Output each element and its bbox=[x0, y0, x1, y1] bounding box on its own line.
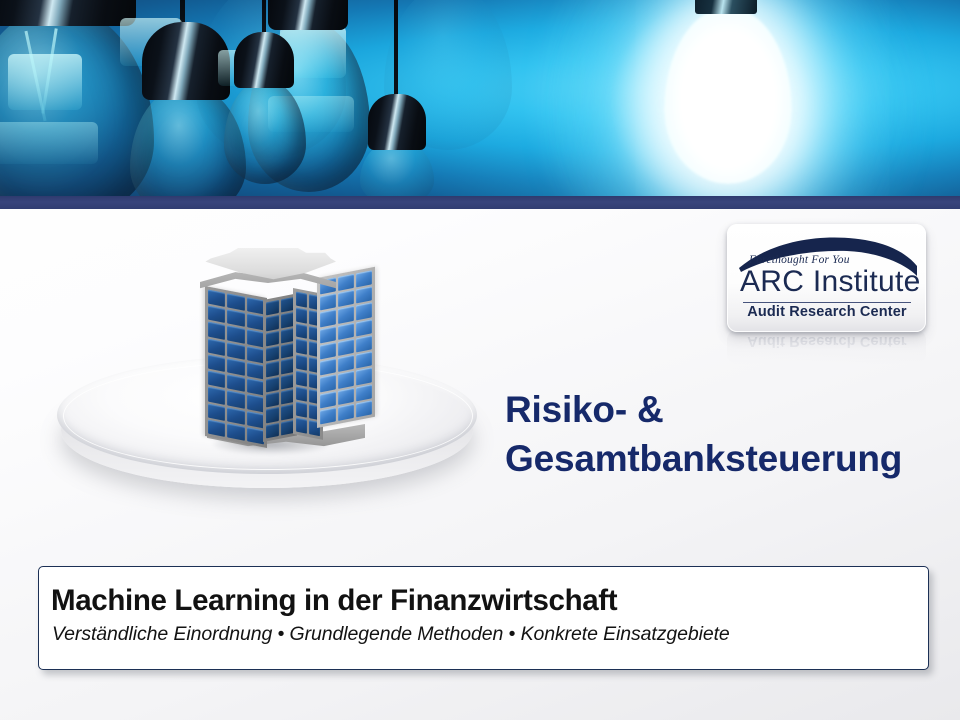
slide-title-line-2: Gesamtbanksteuerung bbox=[505, 434, 935, 483]
logo-subtitle: Audit Research Center bbox=[740, 305, 914, 320]
arc-institute-logo[interactable]: Forethought For You ARC Institute Audit … bbox=[727, 224, 926, 332]
building-face-right bbox=[317, 267, 375, 428]
banner-accent-strip bbox=[0, 196, 960, 209]
subtitle-box-heading: Machine Learning in der Finanzwirtschaft bbox=[51, 584, 617, 618]
logo-reflection: Audit Research Center bbox=[727, 333, 926, 363]
logo-divider bbox=[743, 302, 911, 303]
presentation-slide: Audit Research Center Forethought For Yo… bbox=[0, 0, 960, 720]
logo-reflection-text: Audit Research Center bbox=[740, 333, 914, 349]
building-face-left bbox=[205, 286, 267, 448]
slide-title: Risiko- & Gesamtbanksteuerung bbox=[505, 385, 935, 483]
subtitle-box-subheading: Verständliche Einordnung • Grundlegende … bbox=[52, 623, 730, 646]
logo-name: ARC Institute bbox=[740, 267, 914, 297]
building-tower bbox=[193, 248, 343, 446]
slide-title-line-1: Risiko- & bbox=[505, 385, 935, 434]
lightbulb-banner-image bbox=[0, 0, 960, 196]
subtitle-box: Machine Learning in der Finanzwirtschaft… bbox=[38, 566, 929, 670]
office-building-illustration bbox=[45, 248, 485, 503]
building-face-notch bbox=[263, 293, 297, 442]
glowing-lightbulb-icon bbox=[640, 0, 840, 190]
